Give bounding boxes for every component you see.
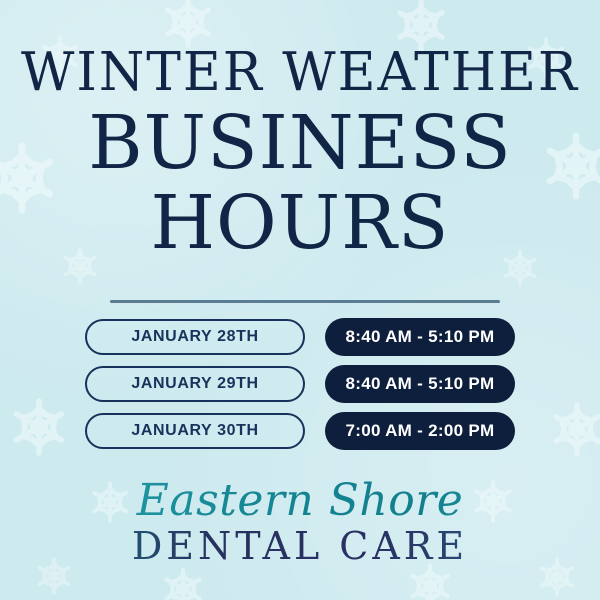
brand-business-name: DENTAL CARE bbox=[0, 526, 600, 568]
heading-line-hours: HOURS bbox=[0, 185, 600, 263]
brand-script-name: Eastern Shore bbox=[0, 478, 600, 524]
schedule-date-pill: JANUARY 28TH bbox=[85, 319, 305, 355]
schedule-row: JANUARY 28TH8:40 AM - 5:10 PM bbox=[0, 318, 600, 356]
schedule-hours-pill: 8:40 AM - 5:10 PM bbox=[325, 318, 515, 356]
schedule-date-pill: JANUARY 29TH bbox=[85, 366, 305, 402]
schedule-date-pill: JANUARY 30TH bbox=[85, 413, 305, 449]
schedule-row: JANUARY 29TH8:40 AM - 5:10 PM bbox=[0, 365, 600, 403]
heading-line-winter-weather: WINTER WEATHER bbox=[6, 46, 594, 99]
poster-heading: WINTER WEATHER BUSINESS HOURS bbox=[0, 46, 600, 262]
schedule-hours-pill: 8:40 AM - 5:10 PM bbox=[325, 365, 515, 403]
heading-line-business: BUSINESS bbox=[0, 105, 600, 183]
brand-logo: Eastern Shore DENTAL CARE bbox=[0, 478, 600, 568]
schedule-hours-pill: 7:00 AM - 2:00 PM bbox=[325, 412, 515, 450]
schedule-list: JANUARY 28TH8:40 AM - 5:10 PMJANUARY 29T… bbox=[0, 318, 600, 459]
heading-divider bbox=[110, 300, 500, 303]
schedule-row: JANUARY 30TH7:00 AM - 2:00 PM bbox=[0, 412, 600, 450]
winter-hours-poster: WINTER WEATHER BUSINESS HOURS JANUARY 28… bbox=[0, 0, 600, 600]
